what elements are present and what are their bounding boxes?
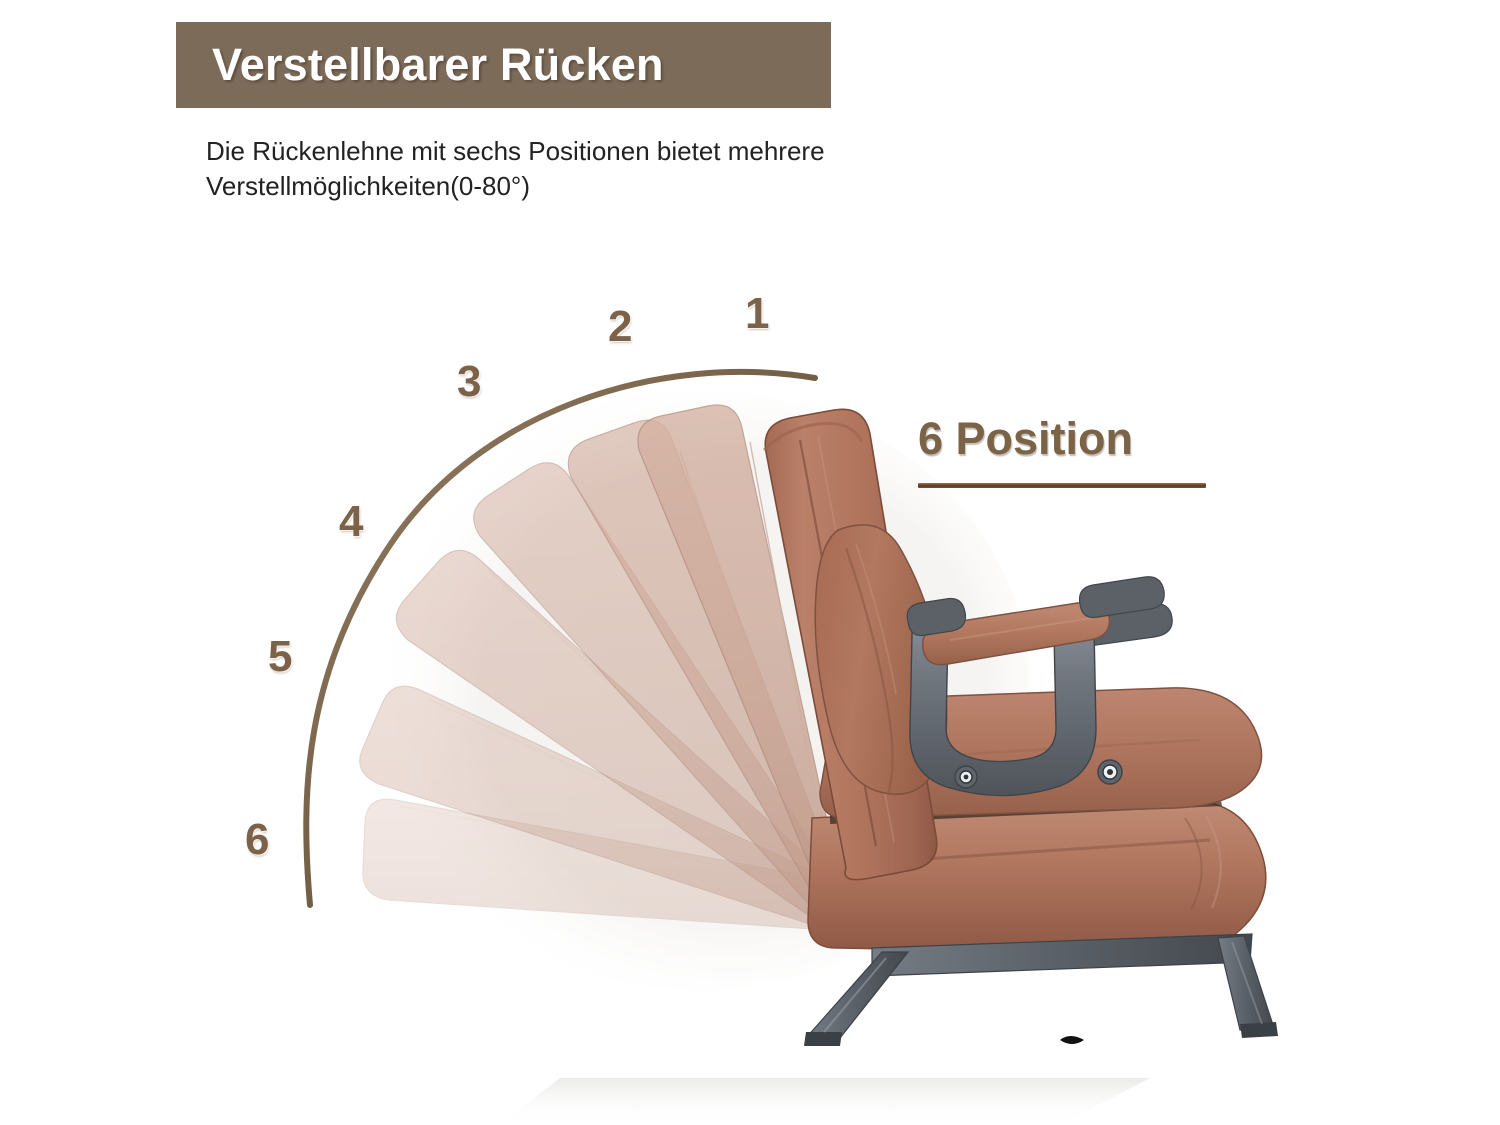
title-banner: Verstellbarer Rücken: [176, 22, 831, 108]
position-number-3: 3: [457, 360, 481, 404]
position-arc: [306, 372, 815, 905]
subtitle-text: Die Rückenlehne mit sechs Positionen bie…: [206, 134, 906, 204]
position-caption: 6 Position: [918, 410, 1218, 468]
ghost-backrest-6: [363, 799, 830, 930]
ghost-backrest-3: [474, 463, 836, 930]
chair-legs: [804, 934, 1278, 1046]
leg-front-left: [806, 952, 908, 1038]
product-feature-image: Verstellbarer Rücken Die Rückenlehne mit…: [0, 0, 1500, 1125]
seat-seam: [830, 794, 1222, 824]
lumbar-pillow: [815, 525, 947, 794]
ghost-backrest-1b: [638, 405, 840, 930]
leg-front-right: [1218, 936, 1274, 1030]
position-caption-underline: [918, 483, 1206, 488]
halo-ellipse: [370, 390, 1030, 990]
seat-cushion: [820, 688, 1262, 818]
backrest-main: [765, 409, 936, 879]
seat-under-shadow: [1060, 1036, 1084, 1044]
armrest-pad-rear: [1078, 604, 1172, 647]
ghost-backrest-2: [568, 420, 838, 930]
position-number-2: 2: [608, 305, 632, 349]
page-title: Verstellbarer Rücken: [212, 39, 664, 91]
position-number-5: 5: [268, 635, 292, 679]
position-caption-label: 6 Position: [918, 413, 1133, 464]
ghost-backrest-group: [360, 405, 840, 930]
armrest-bolt-left: [955, 766, 977, 788]
seat-lower-mattress: [808, 800, 1266, 954]
position-number-6: 6: [245, 818, 269, 862]
ghost-backrest-5: [360, 686, 832, 930]
armrest-cap-left: [907, 599, 965, 636]
ghost-backrest-4: [396, 550, 834, 930]
floor-reflection: [500, 1078, 1150, 1125]
chair: [764, 409, 1278, 1046]
position-number-1: 1: [745, 292, 769, 336]
armrest-cap-right: [1080, 577, 1165, 618]
armrest-pad: [923, 601, 1110, 664]
leg-rail: [872, 934, 1252, 976]
armrest-bolt-right: [1098, 760, 1122, 784]
leg-foot-right: [1240, 1022, 1278, 1038]
leg-foot-left: [804, 1032, 842, 1046]
armrest-frame: [910, 616, 1096, 796]
position-number-4: 4: [339, 500, 363, 544]
